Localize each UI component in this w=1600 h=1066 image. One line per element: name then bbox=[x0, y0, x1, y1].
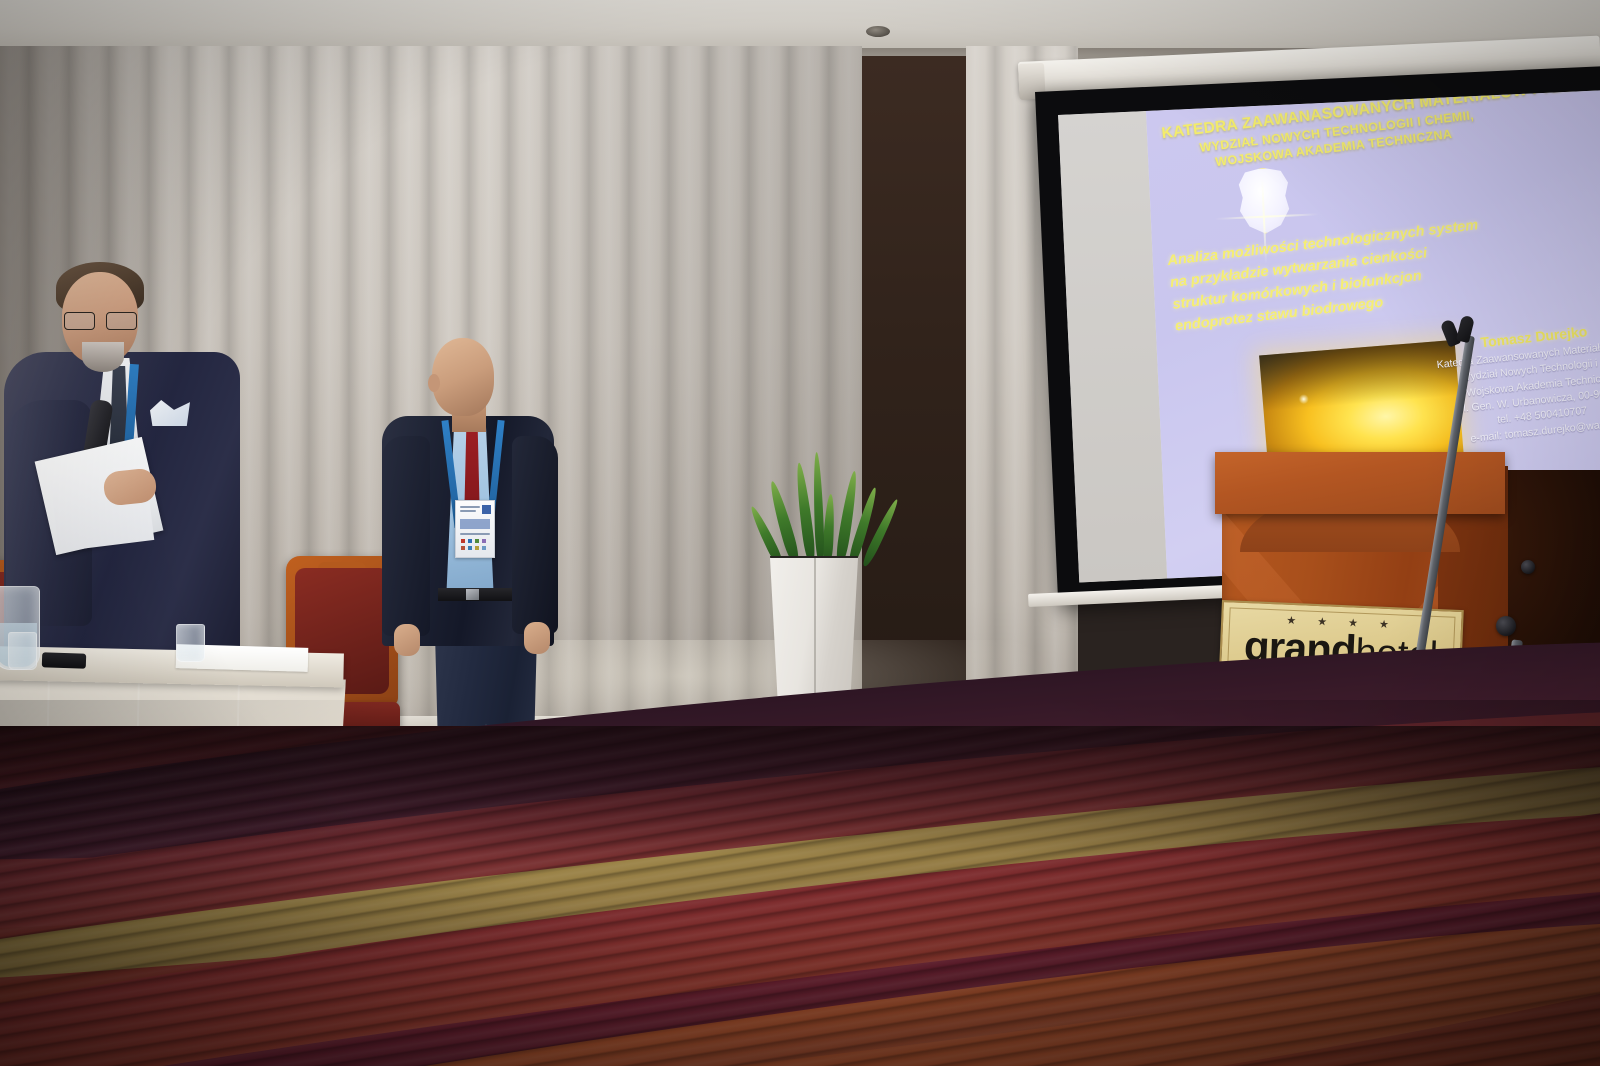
badge-sponsor-chip bbox=[461, 539, 465, 543]
mic-stand-adjust-knob[interactable] bbox=[1521, 560, 1535, 574]
phone-on-table[interactable] bbox=[42, 652, 86, 669]
eyeglasses-icon bbox=[64, 312, 138, 328]
conference-room-photo: KATEDRA ZAAWANASOWANYCH MATERIAŁÓW I TEC… bbox=[0, 0, 1600, 1066]
badge-sponsor-chip bbox=[482, 546, 486, 550]
eyeglass-lens-right bbox=[106, 312, 137, 330]
left-arm bbox=[382, 436, 430, 636]
badge-sponsor-chip bbox=[468, 539, 472, 543]
badge-text-line bbox=[460, 510, 476, 512]
badge-logo bbox=[482, 505, 491, 514]
head bbox=[432, 338, 494, 416]
conference-badge bbox=[455, 500, 495, 558]
right-arm bbox=[512, 436, 558, 634]
badge-sponsor-chip bbox=[482, 539, 486, 543]
mic-stand-clamp-knob[interactable] bbox=[1496, 616, 1516, 636]
wat-crest-icon bbox=[1235, 167, 1292, 233]
slide-title: KATEDRA ZAAWANASOWANYCH MATERIAŁÓW I TEC… bbox=[1161, 90, 1600, 176]
right-hand bbox=[524, 622, 550, 654]
water-glass-left[interactable] bbox=[8, 632, 37, 670]
beard bbox=[82, 342, 124, 372]
microphone-clip-head[interactable] bbox=[1444, 316, 1474, 342]
water-glass-right[interactable] bbox=[176, 624, 205, 662]
badge-text-line bbox=[460, 533, 490, 535]
carpet-vignette bbox=[0, 700, 1600, 1066]
belt-buckle bbox=[466, 589, 479, 600]
mic-clip-prong-right bbox=[1456, 315, 1475, 343]
badge-sponsor-chip bbox=[461, 546, 465, 550]
left-hand bbox=[394, 624, 420, 656]
ceiling-vent-icon bbox=[866, 26, 890, 37]
badge-banner bbox=[460, 519, 490, 529]
podium-top-surface bbox=[1215, 452, 1505, 514]
badge-sponsor-chip bbox=[475, 539, 479, 543]
ear bbox=[428, 374, 440, 392]
badge-sponsor-chip bbox=[475, 546, 479, 550]
badge-text-line bbox=[460, 506, 480, 508]
badge-sponsor-chip bbox=[468, 546, 472, 550]
eyeglass-lens-left bbox=[64, 312, 95, 330]
